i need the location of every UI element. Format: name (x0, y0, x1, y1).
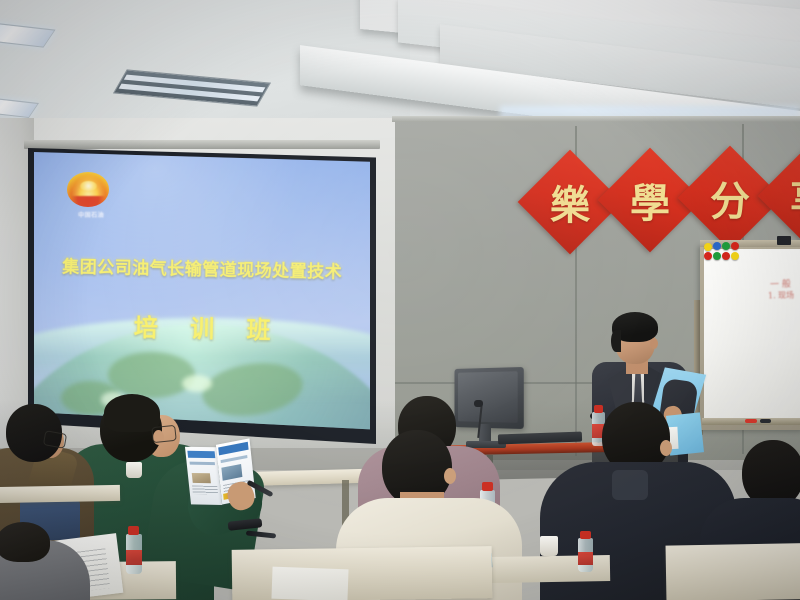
slide-subtitle: 培 训 班 (40, 306, 363, 347)
brochure-text-block (192, 486, 218, 495)
attendee-gray-top-head (0, 522, 50, 562)
petrochina-sun-icon (67, 172, 109, 207)
plaque-glyph: 學 (613, 163, 687, 237)
whiteboard-clip-icon[interactable] (777, 236, 791, 245)
water-bottle-cap (580, 531, 591, 539)
whiteboard-magnet[interactable] (704, 243, 712, 251)
brochure-image (192, 473, 211, 483)
desk (0, 485, 120, 503)
whiteboard-magnet[interactable] (731, 252, 739, 260)
monitor-rear-inner (458, 371, 518, 422)
petrochina-logo: 中国石油 (64, 172, 118, 229)
handout-papers[interactable] (271, 567, 348, 600)
paper-cup[interactable] (540, 536, 558, 556)
attendee-green-polo-hair (104, 394, 160, 432)
plaque-glyph: 分 (693, 161, 767, 235)
attendee-suit1-ear (660, 440, 672, 456)
logo-sun-core (80, 181, 97, 191)
water-bottle-cap (594, 405, 603, 413)
paper-cup[interactable] (126, 462, 142, 478)
presenter-hair-side (611, 330, 621, 352)
whiteboard-writing-line: 1. 现场 (768, 290, 795, 302)
attendee-cream-ear (444, 468, 456, 484)
whiteboard-surface[interactable] (704, 249, 800, 421)
whiteboard-magnet[interactable] (704, 252, 712, 260)
brochure-header-band (187, 451, 215, 458)
water-bottle-cap (482, 482, 493, 491)
plaque-glyph: 樂 (533, 165, 607, 239)
whiteboard-marker-black[interactable] (760, 419, 771, 423)
plaque-glyph: 享 (773, 159, 800, 233)
whiteboard-magnet[interactable] (713, 252, 721, 260)
wall-top-trim (392, 116, 800, 122)
water-bottle-label (578, 552, 593, 565)
whiteboard-magnet[interactable] (731, 242, 739, 250)
whiteboard-marker-red[interactable] (745, 419, 757, 423)
presenter-ear (650, 338, 658, 349)
logo-caption: 中国石油 (64, 210, 118, 219)
desk (666, 542, 800, 600)
projection-screen-housing (24, 140, 380, 149)
classroom-training-photo: 樂 學 分 享 中国石油 集团公司油气长输管道现场处置技术 培 训 班 (0, 0, 800, 600)
water-bottle-cap (128, 526, 139, 535)
glasses-icon (151, 425, 177, 443)
slide-globe-landmass (108, 352, 195, 398)
water-bottle-label (126, 550, 142, 565)
whiteboard-magnet[interactable] (722, 242, 730, 250)
whiteboard-magnet[interactable] (722, 252, 730, 260)
projection-screen: 中国石油 集团公司油气长输管道现场处置技术 培 训 班 (34, 152, 370, 438)
brochure-rule (190, 462, 215, 465)
whiteboard-magnet[interactable] (713, 242, 721, 250)
microphone-icon[interactable] (474, 400, 483, 407)
whiteboard-writing-line: 一 般 (770, 277, 791, 291)
attendee-suit1-collar (612, 470, 648, 500)
